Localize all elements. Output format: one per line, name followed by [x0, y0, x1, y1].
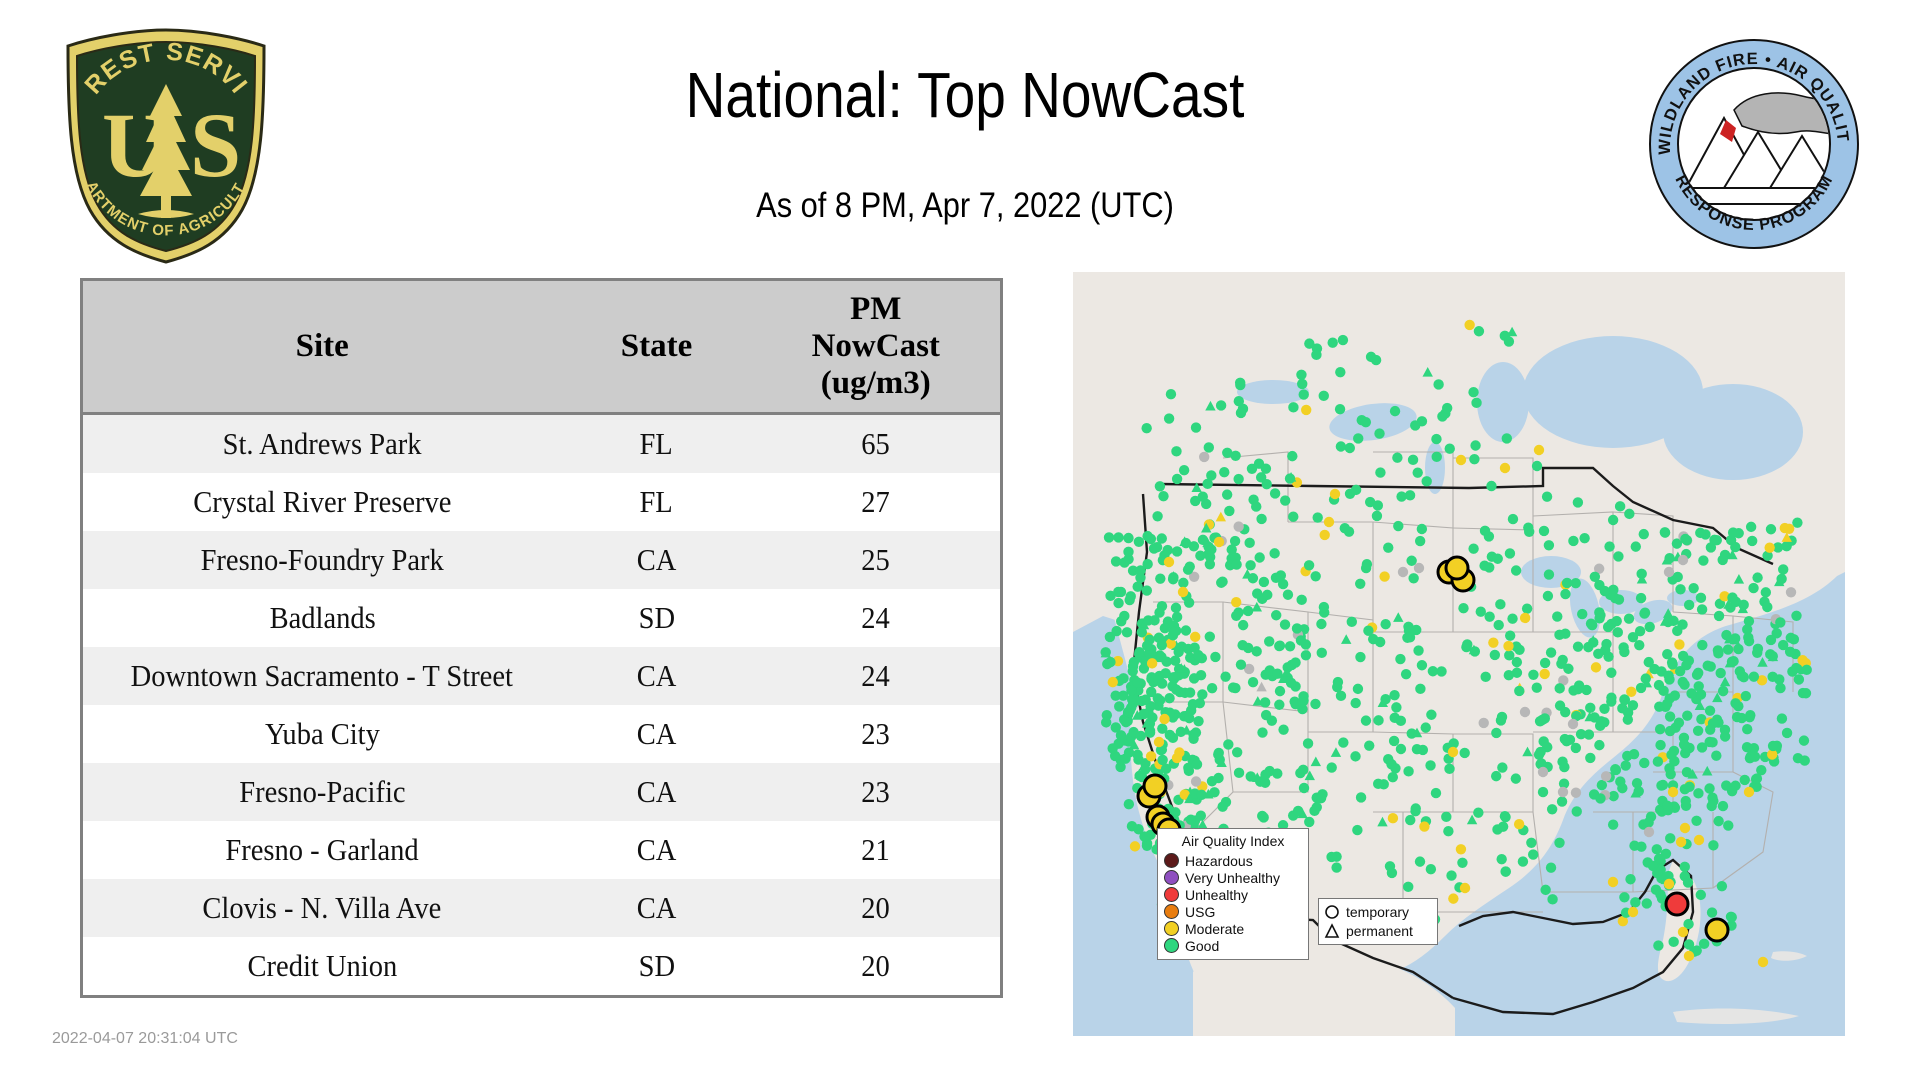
- monitor-marker[interactable]: [1484, 611, 1494, 621]
- monitor-marker[interactable]: [1786, 587, 1796, 597]
- monitor-marker[interactable]: [1538, 767, 1548, 777]
- monitor-marker[interactable]: [1154, 737, 1164, 747]
- monitor-marker[interactable]: [1233, 474, 1243, 484]
- monitor-marker[interactable]: [1608, 515, 1618, 525]
- monitor-marker[interactable]: [1672, 626, 1682, 636]
- monitor-marker[interactable]: [1132, 750, 1142, 760]
- monitor-marker[interactable]: [1491, 771, 1501, 781]
- monitor-marker[interactable]: [1777, 713, 1787, 723]
- monitor-marker[interactable]: [1191, 422, 1201, 432]
- monitor-marker[interactable]: [1681, 796, 1691, 806]
- monitor-marker[interactable]: [1714, 611, 1724, 621]
- monitor-marker[interactable]: [1340, 523, 1350, 533]
- monitor-marker[interactable]: [1274, 700, 1284, 710]
- monitor-marker[interactable]: [1254, 552, 1264, 562]
- monitor-marker[interactable]: [1610, 764, 1620, 774]
- monitor-marker[interactable]: [1594, 740, 1604, 750]
- monitor-marker[interactable]: [1168, 572, 1178, 582]
- monitor-marker[interactable]: [1683, 877, 1693, 887]
- monitor-marker[interactable]: [1643, 817, 1653, 827]
- monitor-marker[interactable]: [1615, 501, 1625, 511]
- monitor-marker[interactable]: [1586, 618, 1596, 628]
- monitor-marker[interactable]: [1270, 488, 1280, 498]
- monitor-marker[interactable]: [1748, 583, 1758, 593]
- monitor-marker[interactable]: [1260, 769, 1270, 779]
- monitor-marker[interactable]: [1563, 664, 1573, 674]
- monitor-marker[interactable]: [1801, 665, 1811, 675]
- monitor-marker[interactable]: [1301, 405, 1311, 415]
- monitor-marker[interactable]: [1280, 619, 1290, 629]
- monitor-marker[interactable]: [1554, 630, 1564, 640]
- monitor-marker[interactable]: [1532, 683, 1542, 693]
- monitor-marker[interactable]: [1713, 645, 1723, 655]
- monitor-marker[interactable]: [1625, 874, 1635, 884]
- monitor-marker[interactable]: [1393, 521, 1403, 531]
- monitor-marker[interactable]: [1785, 647, 1795, 657]
- monitor-marker[interactable]: [1324, 517, 1334, 527]
- monitor-marker[interactable]: [1347, 617, 1357, 627]
- monitor-marker[interactable]: [1431, 788, 1441, 798]
- monitor-marker[interactable]: [1207, 683, 1217, 693]
- monitor-marker[interactable]: [1104, 532, 1114, 542]
- monitor-marker[interactable]: [1390, 763, 1400, 773]
- monitor-marker[interactable]: [1727, 786, 1737, 796]
- monitor-marker[interactable]: [1283, 590, 1293, 600]
- monitor-marker[interactable]: [1220, 671, 1230, 681]
- monitor-marker[interactable]: [1146, 534, 1156, 544]
- monitor-marker[interactable]: [1264, 636, 1274, 646]
- monitor-marker[interactable]: [1750, 751, 1760, 761]
- monitor-marker[interactable]: [1164, 413, 1174, 423]
- monitor-marker[interactable]: [1682, 710, 1692, 720]
- monitor-marker[interactable]: [1620, 695, 1630, 705]
- monitor-marker[interactable]: [1676, 837, 1686, 847]
- monitor-marker[interactable]: [1421, 476, 1431, 486]
- monitor-marker[interactable]: [1396, 491, 1406, 501]
- monitor-marker[interactable]: [1197, 689, 1207, 699]
- monitor-marker[interactable]: [1195, 698, 1205, 708]
- monitor-marker[interactable]: [1411, 803, 1421, 813]
- monitor-marker[interactable]: [1680, 823, 1690, 833]
- monitor-marker[interactable]: [1290, 657, 1300, 667]
- monitor-marker[interactable]: [1546, 863, 1556, 873]
- monitor-marker[interactable]: [1390, 406, 1400, 416]
- monitor-marker[interactable]: [1410, 420, 1420, 430]
- monitor-marker[interactable]: [1640, 608, 1650, 618]
- monitor-marker[interactable]: [1428, 666, 1438, 676]
- monitor-marker[interactable]: [1684, 939, 1694, 949]
- monitor-marker[interactable]: [1217, 801, 1227, 811]
- monitor-marker[interactable]: [1426, 864, 1436, 874]
- monitor-marker[interactable]: [1520, 613, 1530, 623]
- monitor-marker[interactable]: [1292, 623, 1302, 633]
- monitor-marker[interactable]: [1608, 877, 1618, 887]
- monitor-marker[interactable]: [1691, 816, 1701, 826]
- monitor-marker[interactable]: [1653, 940, 1663, 950]
- monitor-marker[interactable]: [1697, 640, 1707, 650]
- monitor-marker[interactable]: [1766, 635, 1776, 645]
- monitor-marker[interactable]: [1491, 728, 1501, 738]
- monitor-marker[interactable]: [1539, 669, 1549, 679]
- monitor-marker[interactable]: [1696, 890, 1706, 900]
- monitor-marker[interactable]: [1528, 670, 1538, 680]
- monitor-marker[interactable]: [1196, 670, 1206, 680]
- monitor-marker[interactable]: [1304, 817, 1314, 827]
- monitor-marker[interactable]: [1704, 783, 1714, 793]
- monitor-marker[interactable]: [1193, 716, 1203, 726]
- monitor-marker[interactable]: [1157, 723, 1167, 733]
- monitor-marker[interactable]: [1681, 660, 1691, 670]
- monitor-marker[interactable]: [1679, 739, 1689, 749]
- monitor-marker[interactable]: [1388, 772, 1398, 782]
- monitor-marker[interactable]: [1114, 701, 1124, 711]
- monitor-marker[interactable]: [1421, 722, 1431, 732]
- monitor-marker[interactable]: [1245, 560, 1255, 570]
- monitor-marker[interactable]: [1164, 557, 1174, 567]
- monitor-marker[interactable]: [1373, 715, 1383, 725]
- monitor-marker[interactable]: [1297, 697, 1307, 707]
- monitor-marker[interactable]: [1231, 559, 1241, 569]
- monitor-marker[interactable]: [1188, 734, 1198, 744]
- monitor-marker[interactable]: [1137, 627, 1147, 637]
- monitor-marker[interactable]: [1278, 724, 1288, 734]
- monitor-marker[interactable]: [1514, 645, 1524, 655]
- monitor-marker[interactable]: [1624, 509, 1634, 519]
- monitor-marker[interactable]: [1500, 811, 1510, 821]
- monitor-marker[interactable]: [1636, 593, 1646, 603]
- monitor-marker[interactable]: [1257, 727, 1267, 737]
- monitor-marker[interactable]: [1271, 610, 1281, 620]
- monitor-marker[interactable]: [1557, 796, 1567, 806]
- monitor-marker[interactable]: [1508, 514, 1518, 524]
- monitor-marker[interactable]: [1500, 463, 1510, 473]
- monitor-marker[interactable]: [1160, 623, 1170, 633]
- monitor-marker[interactable]: [1380, 619, 1390, 629]
- monitor-marker[interactable]: [1524, 527, 1534, 537]
- monitor-marker[interactable]: [1493, 554, 1503, 564]
- monitor-marker[interactable]: [1152, 511, 1162, 521]
- monitor-marker[interactable]: [1235, 380, 1245, 390]
- monitor-marker[interactable]: [1123, 533, 1133, 543]
- monitor-marker[interactable]: [1678, 555, 1688, 565]
- monitor-marker[interactable]: [1288, 512, 1298, 522]
- monitor-marker[interactable]: [1639, 529, 1649, 539]
- monitor-marker[interactable]: [1191, 776, 1201, 786]
- monitor-marker[interactable]: [1293, 806, 1303, 816]
- monitor-marker[interactable]: [1372, 511, 1382, 521]
- monitor-marker[interactable]: [1157, 755, 1167, 765]
- monitor-marker[interactable]: [1658, 780, 1668, 790]
- monitor-marker[interactable]: [1244, 538, 1254, 548]
- monitor-marker[interactable]: [1547, 894, 1557, 904]
- monitor-marker[interactable]: [1544, 540, 1554, 550]
- monitor-marker[interactable]: [1507, 614, 1517, 624]
- monitor-marker[interactable]: [1559, 762, 1569, 772]
- monitor-marker[interactable]: [1583, 642, 1593, 652]
- monitor-marker[interactable]: [1299, 389, 1309, 399]
- monitor-marker[interactable]: [1296, 370, 1306, 380]
- monitor-marker[interactable]: [1497, 762, 1507, 772]
- monitor-marker[interactable]: [1762, 602, 1772, 612]
- monitor-marker[interactable]: [1655, 889, 1665, 899]
- monitor-marker[interactable]: [1345, 443, 1355, 453]
- monitor-marker[interactable]: [1579, 533, 1589, 543]
- monitor-marker[interactable]: [1544, 569, 1554, 579]
- monitor-marker[interactable]: [1272, 668, 1282, 678]
- monitor-marker[interactable]: [1261, 463, 1271, 473]
- monitor-marker[interactable]: [1718, 801, 1728, 811]
- monitor-marker[interactable]: [1319, 530, 1329, 540]
- monitor-marker[interactable]: [1644, 827, 1654, 837]
- monitor-marker[interactable]: [1577, 609, 1587, 619]
- monitor-marker[interactable]: [1495, 599, 1505, 609]
- monitor-marker[interactable]: [1514, 686, 1524, 696]
- monitor-marker[interactable]: [1222, 448, 1232, 458]
- monitor-marker[interactable]: [1665, 726, 1675, 736]
- monitor-marker[interactable]: [1558, 787, 1568, 797]
- monitor-marker[interactable]: [1572, 806, 1582, 816]
- monitor-marker[interactable]: [1742, 742, 1752, 752]
- monitor-marker[interactable]: [1792, 517, 1802, 527]
- monitor-marker[interactable]: [1146, 751, 1156, 761]
- monitor-marker[interactable]: [1205, 631, 1215, 641]
- monitor-marker[interactable]: [1655, 740, 1665, 750]
- monitor-marker[interactable]: [1160, 668, 1170, 678]
- monitor-marker[interactable]: [1233, 521, 1243, 531]
- monitor-marker[interactable]: [1335, 404, 1345, 414]
- monitor-marker[interactable]: [1497, 712, 1507, 722]
- monitor-marker[interactable]: [1154, 607, 1164, 617]
- monitor-marker[interactable]: [1303, 738, 1313, 748]
- monitor-marker[interactable]: [1686, 688, 1696, 698]
- monitor-marker[interactable]: [1603, 651, 1613, 661]
- monitor-marker[interactable]: [1604, 541, 1614, 551]
- monitor-marker[interactable]: [1797, 655, 1807, 665]
- monitor-marker[interactable]: [1392, 452, 1402, 462]
- monitor-marker[interactable]: [1775, 683, 1785, 693]
- monitor-marker[interactable]: [1571, 788, 1581, 798]
- monitor-marker[interactable]: [1711, 751, 1721, 761]
- monitor-marker[interactable]: [1398, 567, 1408, 577]
- monitor-marker[interactable]: [1286, 678, 1296, 688]
- monitor-marker[interactable]: [1629, 749, 1639, 759]
- monitor-marker[interactable]: [1361, 715, 1371, 725]
- monitor-marker[interactable]: [1122, 627, 1132, 637]
- monitor-marker[interactable]: [1534, 445, 1544, 455]
- monitor-marker[interactable]: [1480, 526, 1490, 536]
- monitor-marker[interactable]: [1139, 831, 1149, 841]
- monitor-marker[interactable]: [1252, 588, 1262, 598]
- monitor-marker[interactable]: [1758, 957, 1768, 967]
- monitor-marker[interactable]: [1259, 577, 1269, 587]
- monitor-marker[interactable]: [1743, 632, 1753, 642]
- monitor-marker[interactable]: [1775, 617, 1785, 627]
- monitor-marker[interactable]: [1118, 673, 1128, 683]
- monitor-marker[interactable]: [1717, 881, 1727, 891]
- monitor-marker[interactable]: [1456, 844, 1466, 854]
- monitor-marker[interactable]: [1276, 570, 1286, 580]
- monitor-marker[interactable]: [1141, 423, 1151, 433]
- monitor-marker[interactable]: [1350, 751, 1360, 761]
- monitor-marker[interactable]: [1130, 841, 1140, 851]
- monitor-marker[interactable]: [1111, 722, 1121, 732]
- monitor-marker[interactable]: [1310, 699, 1320, 709]
- monitor-marker[interactable]: [1275, 641, 1285, 651]
- monitor-marker[interactable]: [1298, 765, 1308, 775]
- monitor-marker[interactable]: [1718, 686, 1728, 696]
- monitor-marker[interactable]: [1248, 573, 1258, 583]
- monitor-marker[interactable]: [1155, 695, 1165, 705]
- monitor-marker[interactable]: [1635, 626, 1645, 636]
- monitor-marker[interactable]: [1169, 627, 1179, 637]
- monitor-marker[interactable]: [1168, 733, 1178, 743]
- monitor-marker[interactable]: [1164, 693, 1174, 703]
- monitor-marker[interactable]: [1636, 842, 1646, 852]
- monitor-marker[interactable]: [1496, 854, 1506, 864]
- monitor-marker[interactable]: [1688, 583, 1698, 593]
- monitor-marker[interactable]: [1181, 625, 1191, 635]
- monitor-marker[interactable]: [1227, 544, 1237, 554]
- monitor-marker[interactable]: [1396, 744, 1406, 754]
- monitor-marker[interactable]: [1317, 789, 1327, 799]
- monitor-marker[interactable]: [1248, 677, 1258, 687]
- monitor-marker[interactable]: [1173, 647, 1183, 657]
- monitor-marker[interactable]: [1319, 391, 1329, 401]
- monitor-marker[interactable]: [1408, 455, 1418, 465]
- monitor-marker[interactable]: [1555, 683, 1565, 693]
- monitor-marker[interactable]: [1591, 662, 1601, 672]
- monitor-marker[interactable]: [1415, 856, 1425, 866]
- monitor-marker[interactable]: [1682, 535, 1692, 545]
- monitor-marker[interactable]: [1126, 685, 1136, 695]
- monitor-marker[interactable]: [1296, 635, 1306, 645]
- monitor-marker[interactable]: [1396, 716, 1406, 726]
- monitor-marker[interactable]: [1664, 567, 1674, 577]
- monitor-marker[interactable]: [1199, 452, 1209, 462]
- monitor-marker[interactable]: [1668, 616, 1678, 626]
- monitor-marker[interactable]: [1708, 840, 1718, 850]
- monitor-marker[interactable]: [1448, 893, 1458, 903]
- monitor-marker[interactable]: [1526, 838, 1536, 848]
- marker-st-andrews-park[interactable]: [1666, 893, 1688, 915]
- monitor-marker[interactable]: [1204, 442, 1214, 452]
- monitor-marker[interactable]: [1737, 713, 1747, 723]
- monitor-marker[interactable]: [1178, 587, 1188, 597]
- monitor-marker[interactable]: [1518, 856, 1528, 866]
- monitor-marker[interactable]: [1621, 760, 1631, 770]
- monitor-marker[interactable]: [1603, 622, 1613, 632]
- monitor-marker[interactable]: [1193, 650, 1203, 660]
- monitor-marker[interactable]: [1149, 543, 1159, 553]
- monitor-marker[interactable]: [1752, 773, 1762, 783]
- monitor-marker[interactable]: [1327, 762, 1337, 772]
- monitor-marker[interactable]: [1767, 672, 1777, 682]
- monitor-marker[interactable]: [1554, 838, 1564, 848]
- monitor-marker[interactable]: [1299, 783, 1309, 793]
- monitor-marker[interactable]: [1727, 912, 1737, 922]
- monitor-marker[interactable]: [1444, 764, 1454, 774]
- monitor-marker[interactable]: [1415, 536, 1425, 546]
- monitor-marker[interactable]: [1684, 782, 1694, 792]
- monitor-marker[interactable]: [1336, 441, 1346, 451]
- monitor-marker[interactable]: [1313, 512, 1323, 522]
- monitor-marker[interactable]: [1573, 497, 1583, 507]
- monitor-marker[interactable]: [1375, 467, 1385, 477]
- monitor-marker[interactable]: [1707, 801, 1717, 811]
- monitor-marker[interactable]: [1464, 320, 1474, 330]
- monitor-marker[interactable]: [1532, 461, 1542, 471]
- monitor-marker[interactable]: [1600, 586, 1610, 596]
- monitor-marker[interactable]: [1216, 400, 1226, 410]
- monitor-marker[interactable]: [1458, 603, 1468, 613]
- monitor-marker[interactable]: [1705, 705, 1715, 715]
- monitor-marker[interactable]: [1192, 759, 1202, 769]
- monitor-marker[interactable]: [1403, 766, 1413, 776]
- monitor-marker[interactable]: [1479, 718, 1489, 728]
- monitor-marker[interactable]: [1134, 647, 1144, 657]
- monitor-marker[interactable]: [1442, 403, 1452, 413]
- monitor-marker[interactable]: [1356, 792, 1366, 802]
- monitor-marker[interactable]: [1214, 748, 1224, 758]
- monitor-marker[interactable]: [1730, 542, 1740, 552]
- monitor-marker[interactable]: [1171, 603, 1181, 613]
- monitor-marker[interactable]: [1799, 735, 1809, 745]
- monitor-marker[interactable]: [1500, 866, 1510, 876]
- monitor-marker[interactable]: [1262, 479, 1272, 489]
- monitor-marker[interactable]: [1236, 659, 1246, 669]
- monitor-marker[interactable]: [1419, 821, 1429, 831]
- monitor-marker[interactable]: [1782, 728, 1792, 738]
- monitor-marker[interactable]: [1172, 546, 1182, 556]
- monitor-marker[interactable]: [1693, 726, 1703, 736]
- monitor-marker[interactable]: [1723, 644, 1733, 654]
- monitor-marker[interactable]: [1136, 731, 1146, 741]
- monitor-marker[interactable]: [1101, 717, 1111, 727]
- monitor-marker[interactable]: [1330, 489, 1340, 499]
- monitor-marker[interactable]: [1684, 951, 1694, 961]
- monitor-marker[interactable]: [1326, 852, 1336, 862]
- monitor-marker[interactable]: [1713, 816, 1723, 826]
- monitor-marker[interactable]: [1351, 485, 1361, 495]
- monitor-marker[interactable]: [1196, 810, 1206, 820]
- monitor-marker[interactable]: [1680, 862, 1690, 872]
- monitor-marker[interactable]: [1379, 571, 1389, 581]
- monitor-marker[interactable]: [1505, 548, 1515, 558]
- monitor-marker[interactable]: [1198, 492, 1208, 502]
- monitor-marker[interactable]: [1476, 606, 1486, 616]
- monitor-marker[interactable]: [1511, 773, 1521, 783]
- monitor-marker[interactable]: [1623, 714, 1633, 724]
- monitor-marker[interactable]: [1172, 474, 1182, 484]
- monitor-marker[interactable]: [1728, 527, 1738, 537]
- monitor-marker[interactable]: [1234, 768, 1244, 778]
- monitor-marker[interactable]: [1574, 680, 1584, 690]
- monitor-marker[interactable]: [1228, 682, 1238, 692]
- monitor-marker[interactable]: [1142, 585, 1152, 595]
- monitor-marker[interactable]: [1479, 561, 1489, 571]
- monitor-marker[interactable]: [1155, 481, 1165, 491]
- monitor-marker[interactable]: [1739, 672, 1749, 682]
- monitor-marker[interactable]: [1801, 688, 1811, 698]
- monitor-marker[interactable]: [1219, 467, 1229, 477]
- monitor-marker[interactable]: [1371, 355, 1381, 365]
- monitor-marker[interactable]: [1374, 428, 1384, 438]
- monitor-marker[interactable]: [1178, 578, 1188, 588]
- monitor-marker[interactable]: [1596, 716, 1606, 726]
- monitor-marker[interactable]: [1473, 808, 1483, 818]
- monitor-marker[interactable]: [1353, 684, 1363, 694]
- monitor-marker[interactable]: [1158, 491, 1168, 501]
